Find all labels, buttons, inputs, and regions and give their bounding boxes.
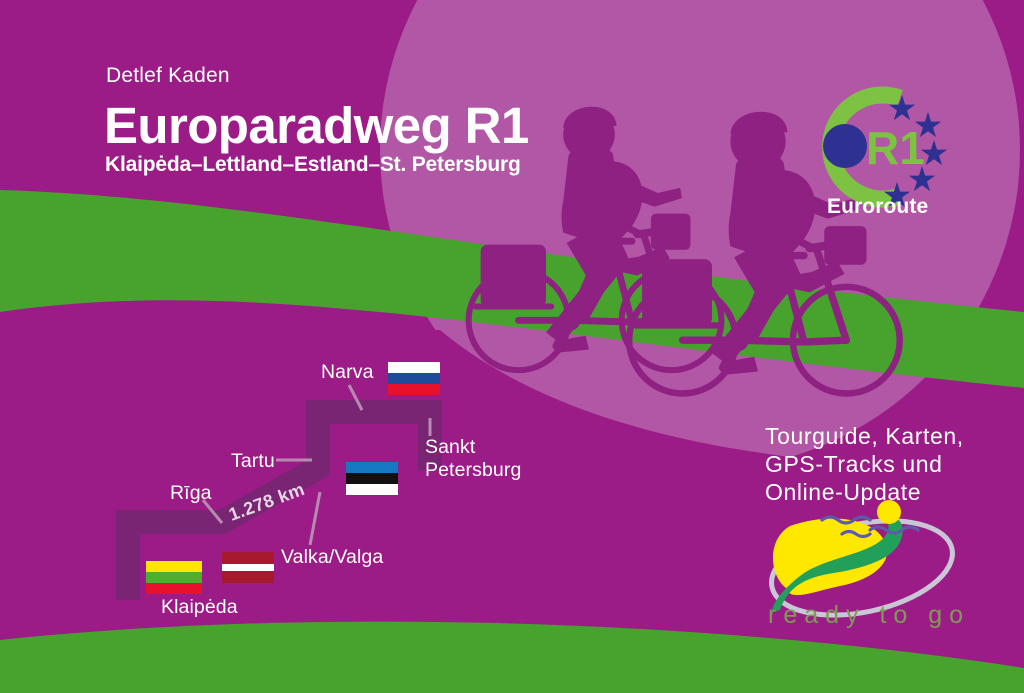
euroroute-dot [823,124,867,168]
euroroute-r1-text: R1 [866,122,925,174]
euroroute-label: Euroroute [827,195,928,219]
map-label-klaipeda: Klaipėda [161,596,238,619]
ready-to-go-tagline: ready to go [768,601,970,630]
page-title: Europaradweg R1 [104,96,529,155]
promo-text: Tourguide, Karten, GPS-Tracks und Online… [765,422,980,506]
map-label-narva: Narva [321,361,374,384]
estonia-flag [346,462,398,495]
lithuania-flag [146,561,202,594]
latvia-flag [222,552,274,583]
book-cover: R1 [0,0,1024,693]
map-label-riga: Rīga [170,482,212,505]
map-label-tartu: Tartu [231,450,275,473]
map-label-valka-valga: Valka/Valga [281,546,383,569]
subtitle: Klaipėda–Lettland–Estland–St. Petersburg [105,153,521,177]
map-label-sankt-petersburg: Sankt Petersburg [425,436,535,482]
author-name: Detlef Kaden [106,64,230,88]
russia-flag [388,362,440,395]
